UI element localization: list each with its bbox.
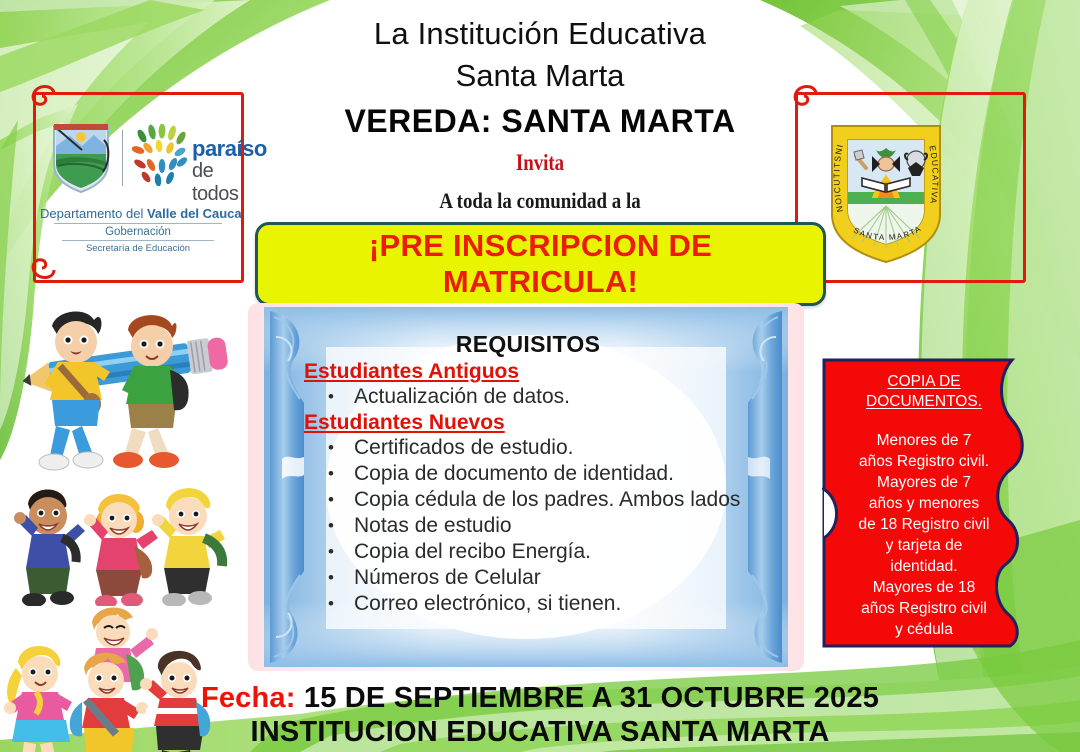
footer-date-line: Fecha: 15 DE SEPTIEMBRE A 31 OCTUBRE 202… [0,682,1080,715]
bullet-icon: • [308,565,354,591]
requisitos-title: REQUISITOS [308,331,748,358]
pre-inscripcion-banner: ¡PRE INSCRIPCION DE MATRICULA! [255,222,826,306]
antiguos-list: • Actualización de datos. [308,384,748,410]
header-comunidad: A toda la comunidad a la [76,188,1005,214]
clipart-three-kids-waving [8,476,238,606]
banner-line-2: MATRICULA! [443,264,638,300]
poster-canvas: paraíso de todos Departamento del Valle … [0,0,1080,752]
section-antiguos-heading: Estudiantes Antiguos [304,360,748,384]
copia-documentos-ribbon: COPIA DE DOCUMENTOS. Menores de 7 años R… [822,358,1040,648]
bullet-icon: • [308,435,354,461]
ribbon-body-line: años y menores [836,493,1012,514]
list-item-label: Números de Celular [354,565,748,591]
fecha-label: Fecha: [201,682,296,714]
secretaria-label: Secretaría de Educación [40,243,236,254]
nuevos-list: • Certificados de estudio. • Copia de do… [308,435,748,617]
bullet-icon: • [308,384,354,410]
banner-line-1: ¡PRE INSCRIPCION DE [369,228,712,264]
ribbon-body-line: y cédula [836,619,1012,640]
list-item-label: Correo electrónico, si tienen. [354,591,748,617]
header-vereda: VEREDA: SANTA MARTA [0,103,1080,140]
list-item: • Copia cédula de los padres. Ambos lado… [308,487,748,513]
bullet-icon: • [308,591,354,617]
requisitos-scroll: REQUISITOS Estudiantes Antiguos • Actual… [248,303,804,671]
ribbon-body-line: Menores de 7 [836,430,1012,451]
bullet-icon: • [308,539,354,565]
list-item-label: Certificados de estudio. [354,435,748,461]
requisitos-content: REQUISITOS Estudiantes Antiguos • Actual… [308,331,748,617]
ribbon-title-line-1: COPIA DE [836,372,1012,392]
ribbon-body-line: Mayores de 18 [836,577,1012,598]
list-item: • Números de Celular [308,565,748,591]
bullet-icon: • [308,487,354,513]
ribbon-body-line: años Registro civil [836,598,1012,619]
gobernacion-label: Gobernación [40,226,236,238]
ribbon-body-line: Mayores de 7 [836,472,1012,493]
list-item-label: Notas de estudio [354,513,748,539]
list-item: • Notas de estudio [308,513,748,539]
list-item-label: Copia cédula de los padres. Ambos lados [354,487,748,513]
list-item-label: Copia del recibo Energía. [354,539,748,565]
fecha-value: 15 DE SEPTIEMBRE A 31 OCTUBRE 2025 [304,682,879,714]
footer-institution: INSTITUCION EDUCATIVA SANTA MARTA [0,716,1080,749]
clipart-two-boys-with-pencil [8,300,238,490]
ribbon-body-line: y tarjeta de [836,535,1012,556]
header-invita: Invita [97,150,983,176]
list-item: • Copia del recibo Energía. [308,539,748,565]
list-item: • Correo electrónico, si tienen. [308,591,748,617]
ribbon-body: Menores de 7 años Registro civil. Mayore… [836,430,1012,640]
ribbon-title-line-2: DOCUMENTOS. [836,392,1012,412]
list-item-label: Copia de documento de identidad. [354,461,748,487]
ribbon-text-block: COPIA DE DOCUMENTOS. Menores de 7 años R… [836,372,1012,640]
list-item-label: Actualización de datos. [354,384,748,410]
header-line-1: La Institución Educativa [0,16,1080,52]
list-item: • Certificados de estudio. [308,435,748,461]
ribbon-body-line: años Registro civil. [836,451,1012,472]
ribbon-body-line: identidad. [836,556,1012,577]
list-item: • Actualización de datos. [308,384,748,410]
section-nuevos-heading: Estudiantes Nuevos [304,411,748,435]
bullet-icon: • [308,513,354,539]
header-line-2: Santa Marta [0,58,1080,94]
list-item: • Copia de documento de identidad. [308,461,748,487]
bullet-icon: • [308,461,354,487]
ribbon-body-line: de 18 Registro civil [836,514,1012,535]
